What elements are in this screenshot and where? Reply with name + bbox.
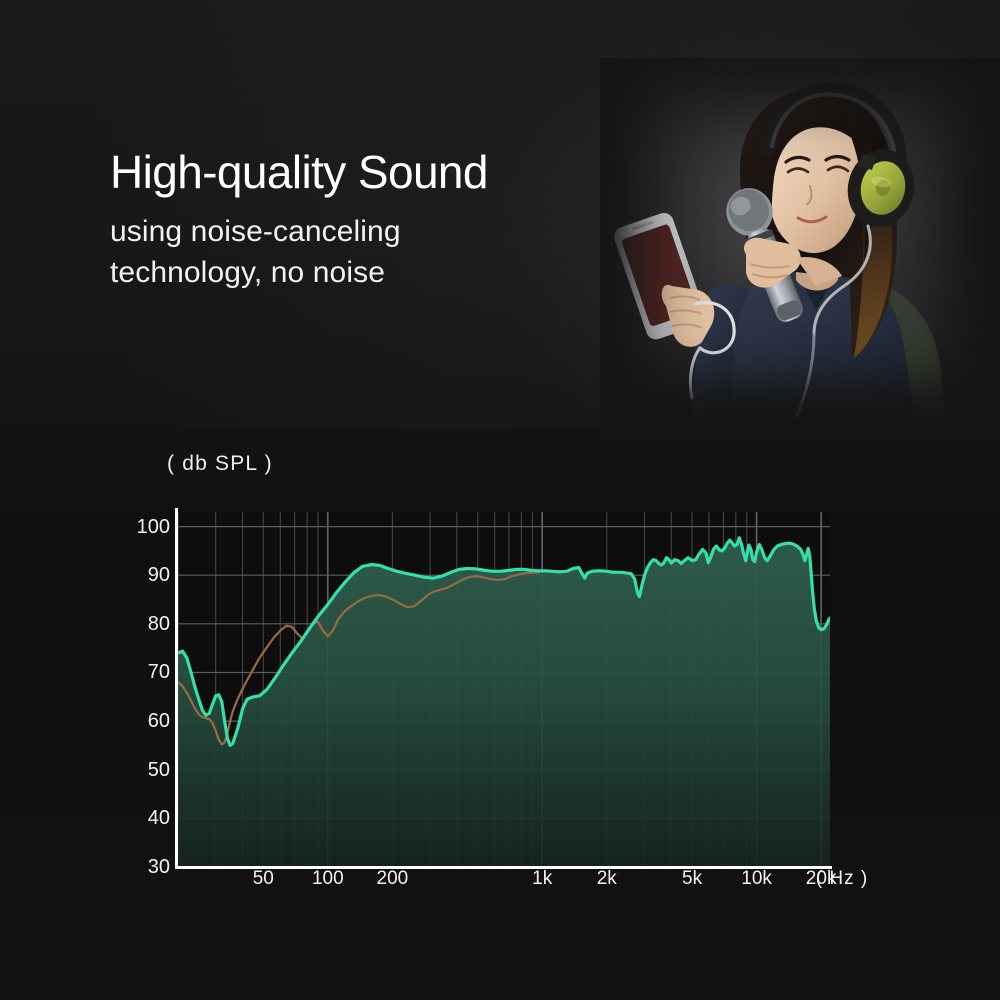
y-axis-tick: 90 <box>124 565 170 585</box>
x-axis-tick: 50 <box>253 868 274 890</box>
x-axis-tick: 2k <box>597 868 617 890</box>
x-axis-tick: 1k <box>532 868 552 890</box>
x-axis-tick: 200 <box>377 868 409 890</box>
x-axis-tick: 5k <box>682 868 702 890</box>
x-axis-tick-labels: 501002001k2k5k10k20k( Hz ) <box>0 868 1000 898</box>
y-axis-tick: 70 <box>124 662 170 682</box>
y-axis-tick: 50 <box>124 760 170 780</box>
x-axis-tick: 10k <box>741 868 772 890</box>
promo-banner: High-quality Sound using noise-canceling… <box>0 0 1000 1000</box>
x-axis-tick: 100 <box>312 868 344 890</box>
y-axis-tick: 80 <box>124 614 170 634</box>
y-axis-tick: 60 <box>124 711 170 731</box>
x-axis-unit-label: ( Hz ) <box>816 868 868 890</box>
y-axis-tick: 40 <box>124 808 170 828</box>
y-axis-tick: 100 <box>124 517 170 537</box>
y-axis-tick-labels: 10090807060504030 <box>124 0 170 1000</box>
